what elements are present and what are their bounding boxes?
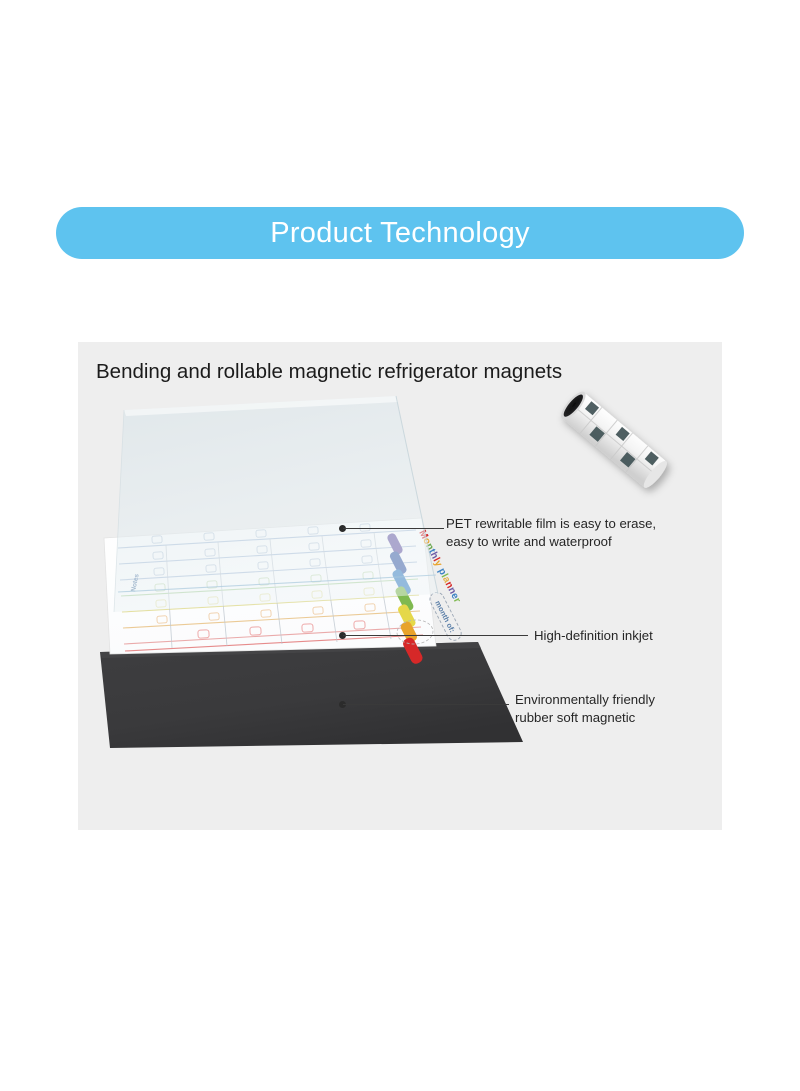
magnetic-base-layer xyxy=(100,642,523,748)
leader-line-rubber-magnet xyxy=(343,704,509,705)
callout-inkjet: High-definition inkjet xyxy=(534,627,719,645)
product-technology-panel: Bending and rollable magnetic refrigerat… xyxy=(78,342,722,830)
exploded-layers-diagram: Monthly planner month of: Notes xyxy=(78,342,722,830)
pet-film-layer xyxy=(114,396,438,612)
callout-pet-film: PET rewritable film is easy to erase, ea… xyxy=(446,515,696,551)
banner-title: Product Technology xyxy=(270,219,530,248)
leader-line-pet-film xyxy=(343,528,444,529)
rolled-magnet-sheet xyxy=(544,384,680,500)
product-technology-banner: Product Technology xyxy=(56,207,744,259)
callout-rubber-magnet: Environmentally friendly rubber soft mag… xyxy=(515,691,715,727)
leader-line-inkjet xyxy=(343,635,528,636)
